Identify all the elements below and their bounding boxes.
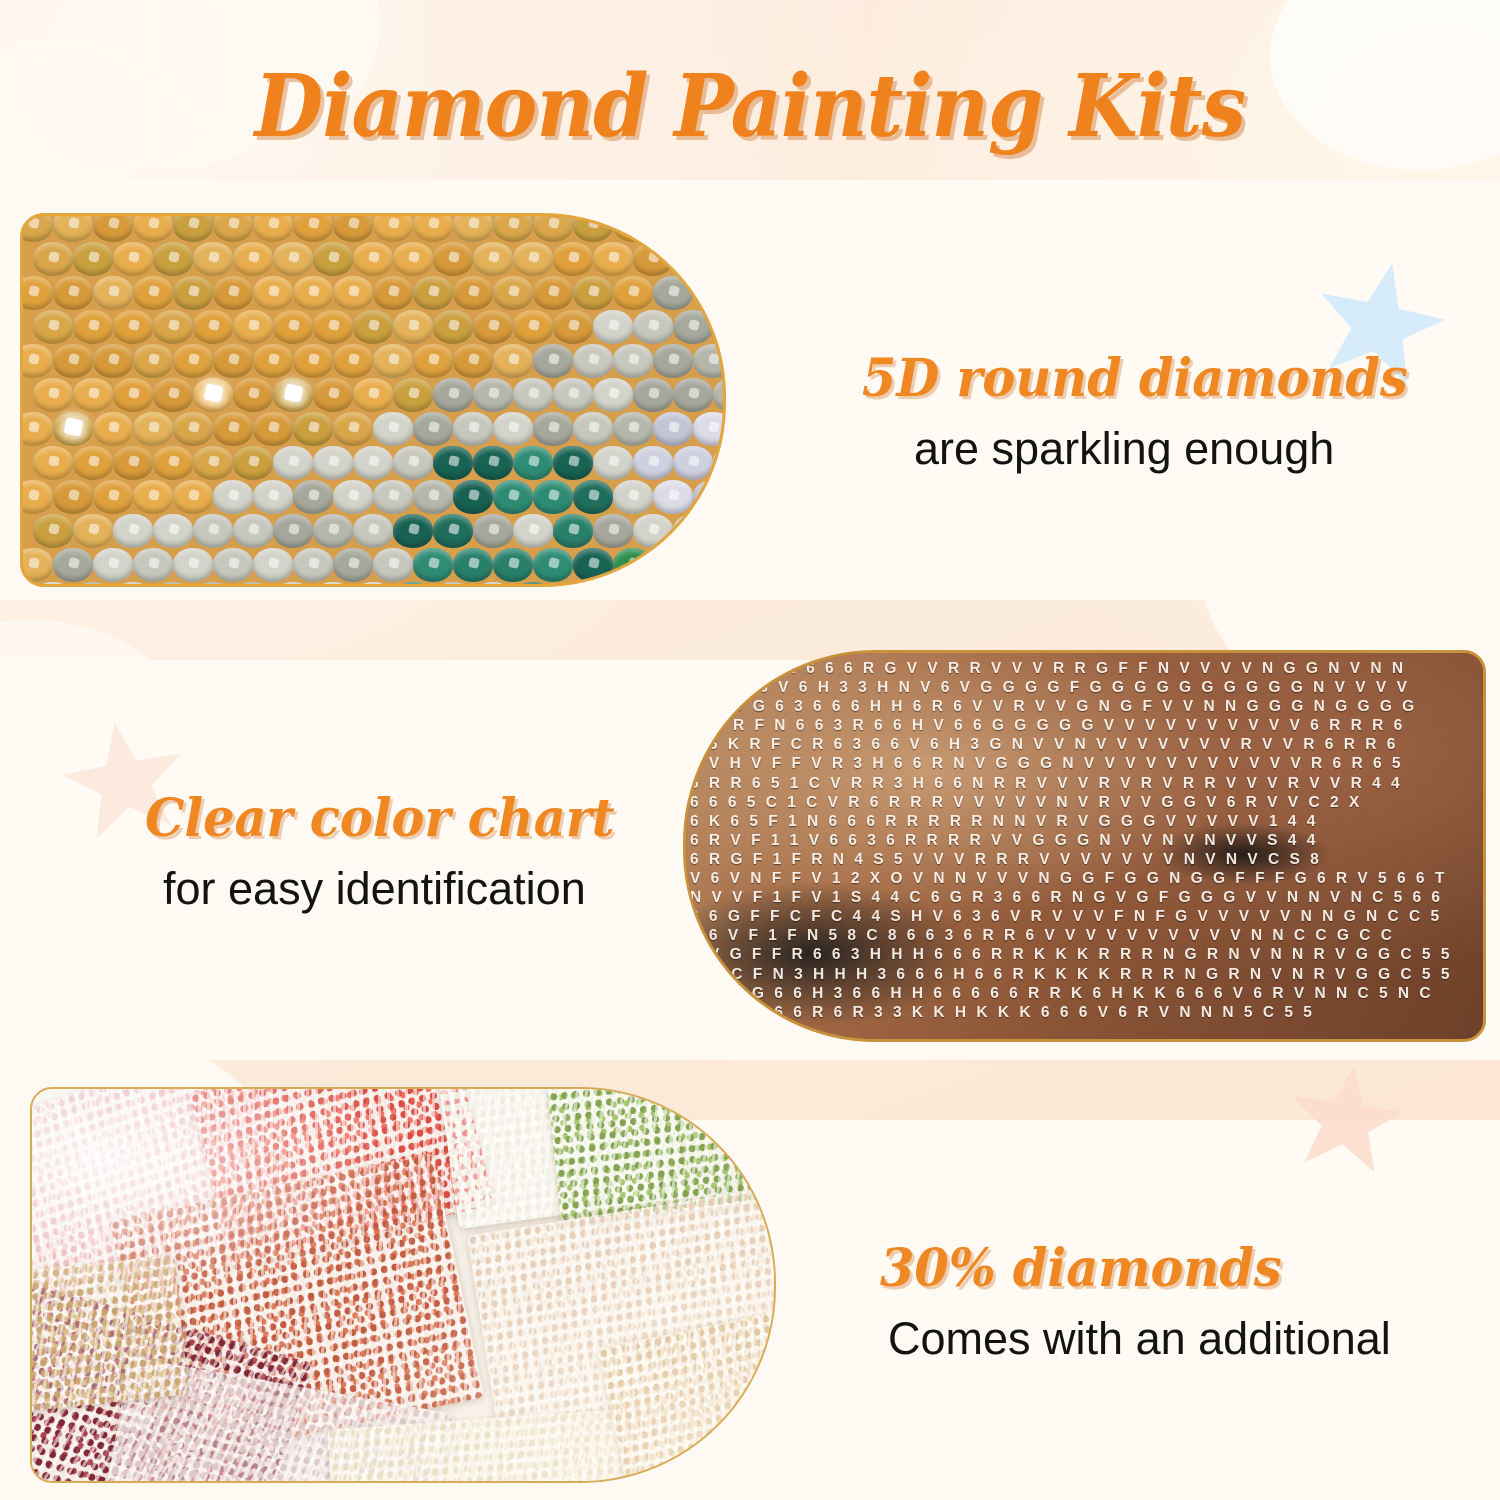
diamond-bead: [333, 276, 373, 310]
diamond-bead: [553, 514, 593, 548]
diamond-bead: [693, 276, 726, 310]
diamond-bead: [453, 412, 493, 446]
diamond-bead: [513, 242, 553, 276]
diamond-bead: [273, 446, 313, 480]
diamond-bead: [213, 480, 253, 514]
diamond-bead: [333, 213, 373, 242]
diamond-bead: [473, 310, 513, 344]
diamond-bead: [433, 514, 473, 548]
diamond-bead: [633, 378, 673, 412]
diamond-bead: [473, 446, 513, 480]
diamond-bead: [20, 276, 53, 310]
diamond-bead: [73, 582, 113, 587]
diamond-bead: [73, 446, 113, 480]
diamond-bead: [313, 242, 353, 276]
diamond-bead: [313, 378, 353, 412]
color-chart-symbol-grid: N 6 V 6 H 6 6 6 R G V V R R V V V R R G …: [686, 653, 1483, 1039]
diamond-bead: [133, 480, 173, 514]
diamond-bead: [20, 548, 53, 582]
diamond-bead: [533, 480, 573, 514]
diamond-bead: [593, 242, 633, 276]
feature-subline: Comes with an additional: [888, 1313, 1391, 1365]
diamond-bead: [53, 213, 93, 242]
diamond-bead: [233, 242, 273, 276]
feature-headline: 30% diamonds: [880, 1238, 1365, 1299]
feature-image-color-chart: N 6 V 6 H 6 6 6 R G V V R R V V V R R G …: [683, 650, 1486, 1042]
diamond-bead: [313, 446, 353, 480]
bag-foil-sheen: [30, 1255, 189, 1413]
diamond-bead: [453, 344, 493, 378]
diamond-bead: [653, 213, 693, 242]
diamond-bead: [553, 242, 593, 276]
diamond-bead: [153, 378, 193, 412]
diamond-bead: [413, 412, 453, 446]
diamond-bead: [33, 310, 73, 344]
diamond-bead: [133, 412, 173, 446]
diamond-bead: [453, 480, 493, 514]
diamond-bead: [453, 548, 493, 582]
feature-headline: 5D round diamonds: [862, 348, 1408, 409]
diamond-bead: [213, 213, 253, 242]
diamond-bead: [433, 446, 473, 480]
diamond-bead: [133, 213, 173, 242]
diamond-bead: [433, 310, 473, 344]
diamond-bead: [93, 412, 133, 446]
diamond-bead: [153, 446, 193, 480]
diamond-bead: [53, 344, 93, 378]
feature-headline: Clear color chart: [145, 788, 615, 849]
diamond-bead: [513, 582, 553, 587]
diamond-bead: [273, 582, 313, 587]
diamond-bead: [433, 378, 473, 412]
diamond-bead: [153, 514, 193, 548]
diamond-bead: [53, 480, 93, 514]
diamond-bead: [133, 548, 173, 582]
diamond-bead: [20, 480, 53, 514]
diamond-bead: [193, 514, 233, 548]
diamond-bead: [20, 213, 53, 242]
diamond-bead: [493, 412, 533, 446]
diamond-bead: [653, 548, 693, 582]
diamond-bead: [313, 582, 353, 587]
diamond-bead: [73, 514, 113, 548]
diamond-bead: [113, 446, 153, 480]
diamond-bead: [273, 378, 313, 412]
diamond-bead: [93, 276, 133, 310]
diamond-bead: [693, 344, 726, 378]
diamond-bead: [113, 378, 153, 412]
diamond-bead: [553, 446, 593, 480]
diamond-bead: [193, 446, 233, 480]
diamond-bead: [613, 276, 653, 310]
diamond-bead: [413, 344, 453, 378]
diamond-bead: [513, 446, 553, 480]
diamond-bead: [373, 548, 413, 582]
diamond-bead: [93, 480, 133, 514]
diamond-bead: [193, 378, 233, 412]
diamond-bead: [593, 446, 633, 480]
diamond-bead: [53, 412, 93, 446]
diamond-bead: [613, 480, 653, 514]
diamond-bead: [573, 548, 613, 582]
diamond-bead: [313, 310, 353, 344]
diamond-bead: [73, 378, 113, 412]
feature-text-round-diamonds: 5D round diamonds are sparkling enough: [862, 348, 1437, 475]
diamond-bead: [293, 548, 333, 582]
diamond-bag: [30, 1255, 189, 1413]
diamond-bead: [393, 378, 433, 412]
diamond-bead: [253, 213, 293, 242]
diamond-bead: [33, 378, 73, 412]
diamond-bead: [613, 412, 653, 446]
diamond-bead: [233, 582, 273, 587]
page-title: Diamond Painting Kits: [60, 56, 1440, 157]
diamond-bead: [533, 344, 573, 378]
diamond-bead: [473, 514, 513, 548]
diamond-bead: [573, 276, 613, 310]
diamond-bead: [513, 378, 553, 412]
diamond-bead: [213, 344, 253, 378]
diamond-bead: [93, 344, 133, 378]
diamond-bead: [253, 480, 293, 514]
diamond-bead: [633, 242, 673, 276]
diamond-bead: [173, 548, 213, 582]
diamond-bead: [213, 548, 253, 582]
diamond-bead: [293, 344, 333, 378]
diamond-bead: [373, 480, 413, 514]
diamond-bead: [273, 242, 313, 276]
diamond-bead: [53, 276, 93, 310]
diamond-bead: [393, 242, 433, 276]
diamond-bead: [173, 344, 213, 378]
diamond-bead: [393, 582, 433, 587]
diamond-bead: [493, 480, 533, 514]
feature-text-color-chart: Clear color chart for easy identificatio…: [145, 788, 639, 915]
diamond-bead: [613, 548, 653, 582]
diamond-bead: [533, 548, 573, 582]
diamond-bead: [573, 412, 613, 446]
diamond-bead: [533, 412, 573, 446]
diamond-bead: [133, 344, 173, 378]
diamond-bead: [693, 412, 726, 446]
diamond-bead: [573, 213, 613, 242]
diamond-bead: [713, 378, 726, 412]
diamond-bead: [573, 480, 613, 514]
diamond-bead: [493, 344, 533, 378]
diamond-bead: [533, 213, 573, 242]
diamond-bead: [493, 548, 533, 582]
diamond-bead: [473, 378, 513, 412]
diamond-bead: [533, 276, 573, 310]
diamond-bead: [233, 378, 273, 412]
diamond-bead: [73, 242, 113, 276]
diamond-bead: [173, 276, 213, 310]
diamond-bead: [33, 582, 73, 587]
diamond-bead: [493, 213, 533, 242]
diamond-bead: [473, 242, 513, 276]
infographic-poster: Diamond Painting Kits 5D round diamonds …: [0, 0, 1500, 1500]
diamond-bead: [93, 548, 133, 582]
diamond-bead: [293, 480, 333, 514]
diamond-bead: [233, 310, 273, 344]
diamond-bead: [153, 582, 193, 587]
diamond-bead: [673, 514, 713, 548]
diamond-bead: [93, 213, 133, 242]
diamond-bead: [413, 548, 453, 582]
diamond-bead: [693, 480, 726, 514]
diamond-bead: [333, 412, 373, 446]
diamond-bead: [593, 378, 633, 412]
diamond-bead: [293, 276, 333, 310]
diamond-bead: [593, 514, 633, 548]
diamond-bead: [33, 514, 73, 548]
diamond-bead: [393, 514, 433, 548]
diamond-bead: [353, 378, 393, 412]
diamond-bead: [393, 446, 433, 480]
diamond-bead: [173, 412, 213, 446]
diamond-bead: [433, 582, 473, 587]
diamond-bead: [233, 446, 273, 480]
diamond-bead: [653, 480, 693, 514]
diamond-bead: [673, 378, 713, 412]
diamond-bead: [353, 446, 393, 480]
diamond-bead: [73, 310, 113, 344]
diamond-bead: [693, 548, 726, 582]
diamond-bead: [373, 412, 413, 446]
diamond-bead: [353, 582, 393, 587]
diamond-bead: [373, 344, 413, 378]
diamond-bead: [173, 213, 213, 242]
diamond-bead: [353, 514, 393, 548]
diamond-bead: [213, 412, 253, 446]
feature-image-extra-diamonds: [30, 1087, 776, 1483]
diamond-bead: [293, 213, 333, 242]
diamond-bead: [113, 582, 153, 587]
diamond-bead: [393, 310, 433, 344]
diamond-bead: [193, 310, 233, 344]
diamond-bead: [253, 276, 293, 310]
diamond-bead: [133, 276, 173, 310]
diamond-bead: [20, 344, 53, 378]
diamond-bead: [213, 276, 253, 310]
diamond-bead: [633, 310, 673, 344]
diamond-bead: [453, 276, 493, 310]
diamond-bead: [333, 344, 373, 378]
diamond-bead: [513, 514, 553, 548]
diamond-bead: [653, 276, 693, 310]
diamond-bead: [433, 242, 473, 276]
diamond-bead: [373, 213, 413, 242]
diamond-bead: [33, 446, 73, 480]
diamond-bead: [573, 344, 613, 378]
diamond-bead: [313, 514, 353, 548]
diamond-bead: [293, 412, 333, 446]
diamond-bead: [473, 582, 513, 587]
diamond-bead: [193, 242, 233, 276]
diamond-bead: [33, 242, 73, 276]
diamond-bead: [493, 276, 533, 310]
diamond-bead: [153, 310, 193, 344]
diamond-bead: [273, 310, 313, 344]
diamond-bead: [513, 310, 553, 344]
diamond-bead: [153, 242, 193, 276]
diamond-bead: [20, 412, 53, 446]
diamond-bead: [413, 213, 453, 242]
diamond-bead: [413, 480, 453, 514]
diamond-bead: [673, 310, 713, 344]
diamond-bead: [453, 213, 493, 242]
diamond-bead: [113, 310, 153, 344]
diamond-bead: [413, 276, 453, 310]
feature-text-extra-diamonds: 30% diamonds Comes with an additional: [880, 1238, 1391, 1365]
diamond-bead: [633, 514, 673, 548]
feature-image-round-diamonds: [20, 213, 726, 587]
diamond-bead: [273, 514, 313, 548]
diamond-bead: [333, 548, 373, 582]
diamond-bead: [613, 344, 653, 378]
diamond-bead: [653, 344, 693, 378]
diamond-bead: [673, 242, 713, 276]
diamond-bead: [613, 213, 653, 242]
diamond-bead: [693, 213, 726, 242]
diamond-bead: [353, 242, 393, 276]
diamond-bead: [553, 378, 593, 412]
feature-subline: are sparkling enough: [914, 423, 1437, 475]
diamond-bead: [113, 514, 153, 548]
diamond-bead: [253, 344, 293, 378]
diamond-bead: [553, 310, 593, 344]
diamond-bead: [193, 582, 233, 587]
diamond-bead: [373, 276, 413, 310]
feature-subline: for easy identification: [163, 863, 639, 915]
diamond-bead: [333, 480, 373, 514]
diamond-bead: [253, 548, 293, 582]
diamond-bead: [633, 446, 673, 480]
diamond-bead: [233, 514, 273, 548]
diamond-bead: [353, 310, 393, 344]
diamond-bead: [673, 446, 713, 480]
diamond-bead: [173, 480, 213, 514]
diamond-bead: [253, 412, 293, 446]
diamond-bead: [53, 548, 93, 582]
diamond-bead: [593, 310, 633, 344]
diamond-bead: [653, 412, 693, 446]
diamond-bead: [113, 242, 153, 276]
